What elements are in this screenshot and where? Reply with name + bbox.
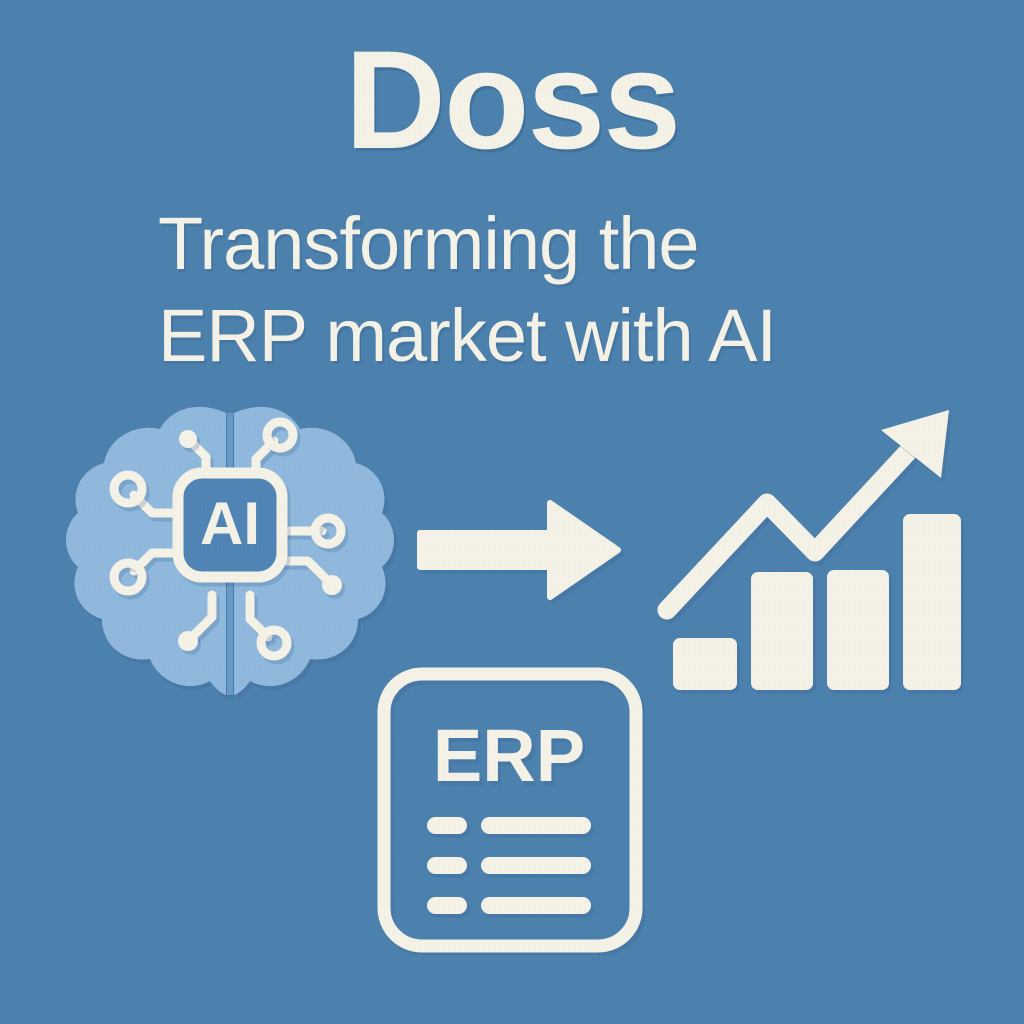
growth-bar [827, 570, 889, 690]
circuit-node-dot [322, 575, 342, 595]
erp-row-bullet [427, 857, 467, 874]
erp-row-line [481, 857, 591, 874]
circuit-node-dot [178, 631, 198, 651]
subtitle-line-2: ERP market with AI [158, 290, 918, 382]
growth-bar [903, 514, 961, 690]
erp-row-bullet [427, 897, 467, 914]
erp-row-line [481, 897, 591, 914]
right-arrow-shape [420, 503, 618, 597]
erp-row-line [481, 817, 591, 834]
right-arrow-icon [410, 495, 630, 605]
ai-chip: AI [178, 473, 282, 577]
erp-document-heading: ERP [433, 714, 585, 797]
erp-row-bullet [427, 817, 467, 834]
page-subtitle: Transforming the ERP market with AI [158, 198, 918, 382]
ai-brain-icon: AI [60, 395, 400, 715]
erp-document-rows [427, 817, 591, 914]
circuit-node-dot [179, 430, 197, 448]
poster-canvas: Doss Transforming the ERP market with AI [0, 0, 1024, 1024]
growth-bar [673, 638, 737, 690]
erp-document-icon: ERP [375, 665, 645, 955]
page-title: Doss [0, 30, 1024, 170]
growth-bar [751, 572, 813, 690]
growth-chart-icon [655, 400, 975, 710]
subtitle-line-1: Transforming the [158, 198, 918, 290]
ai-chip-label: AI [200, 490, 260, 557]
